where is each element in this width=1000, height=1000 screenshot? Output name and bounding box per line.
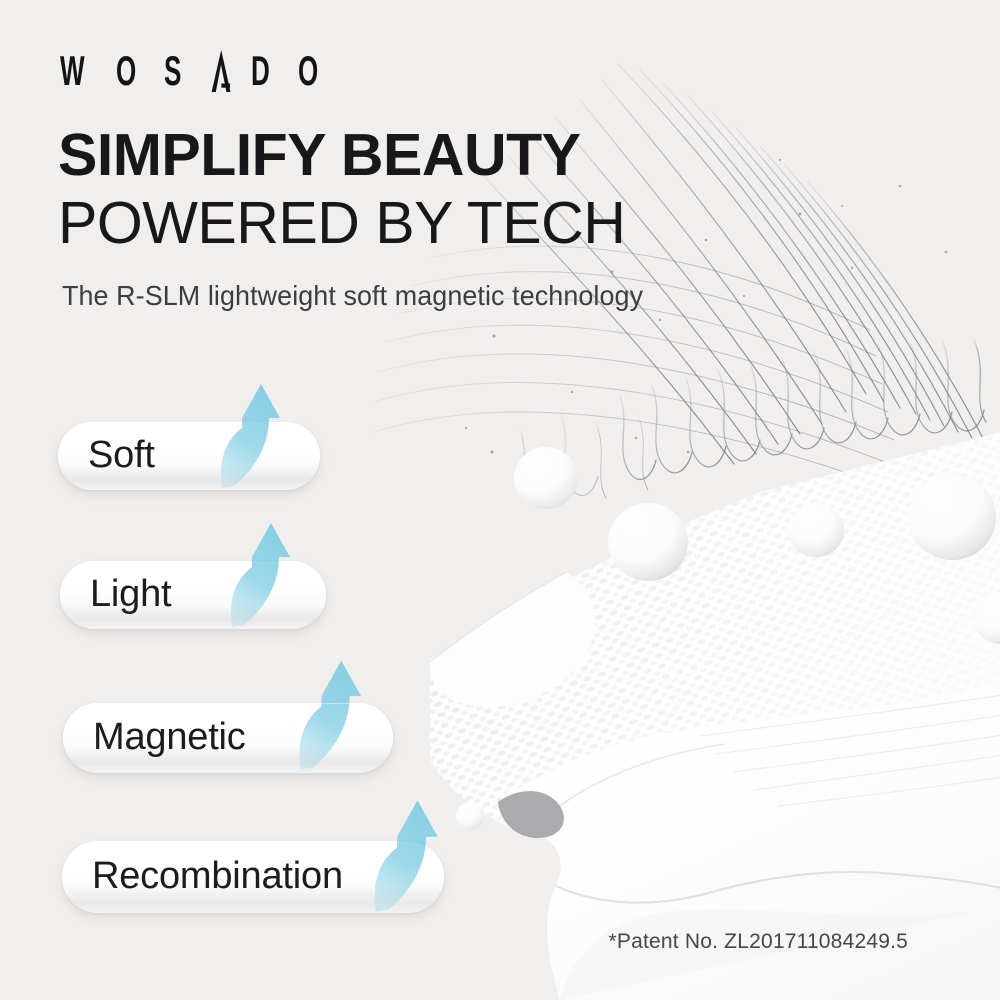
feature-pill-label: Magnetic [63,718,246,756]
headline-line-2: POWERED BY TECH [58,190,818,256]
logo-letter-a-stylized [208,50,235,92]
patent-footnote: *Patent No. ZL201711084249.5 [609,930,908,954]
headline-block: SIMPLIFY BEAUTY POWERED BY TECH [58,123,818,256]
logo-letter-o2: O [298,50,318,92]
feature-pill-label: Soft [58,436,155,474]
feature-pill-label: Recombination [62,857,343,895]
woven-mesh-graphic [380,400,1000,870]
feature-pill[interactable]: Recombination [62,841,444,913]
feature-pill[interactable]: Magnetic [63,703,393,773]
logo-letter-s: S [164,50,181,92]
feature-pill[interactable]: Soft [58,422,320,490]
floating-spheres-graphic [456,447,1000,830]
logo-letter-d: D [251,50,270,92]
logo-letter-w: W [60,50,85,92]
feature-pill[interactable]: Light [60,561,326,629]
headline-line-1: SIMPLIFY BEAUTY [58,123,818,187]
feature-pill-label: Light [60,575,171,613]
subtitle-text: The R-SLM lightweight soft magnetic tech… [62,279,643,313]
promo-banner: W O S D O SIMPLIFY BEAUTY POWERED BY TEC… [0,0,1000,1000]
logo-letter-o1: O [116,50,136,92]
brand-logo: W O S D O [60,46,346,92]
